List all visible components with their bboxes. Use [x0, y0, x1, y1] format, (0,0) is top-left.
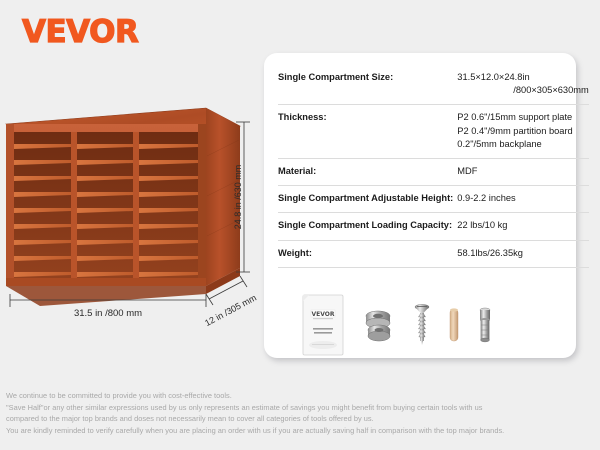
spec-label-material: Material:: [278, 158, 457, 185]
spec-label-weight: Weight:: [278, 240, 457, 267]
spec-label-loading-capacity: Single Compartment Loading Capacity:: [278, 213, 457, 240]
spec-value-thickness: P2 0.6"/15mm support plate P2 0.4"/9mm p…: [457, 105, 588, 159]
spec-row-material: Material: MDF: [278, 158, 589, 185]
specification-card: Single Compartment Size: 31.5×12.0×24.8i…: [264, 53, 576, 358]
spec-value-adjustable-height: 0.9-2.2 inches: [457, 186, 588, 213]
instruction-manual-icon: VEVOR: [302, 294, 344, 356]
vevor-brand-logo: VEVOR: [22, 17, 138, 48]
disclaimer-line-1: We continue to be committed to provide y…: [6, 390, 596, 402]
accessory-instruction-manual: VEVOR: [302, 294, 344, 361]
accessory-screw: [414, 303, 430, 352]
spec-label-adjustable-height: Single Compartment Adjustable Height:: [278, 186, 457, 213]
spec-value-extra-line-2: 0.2"/5mm backplane: [457, 138, 588, 151]
spec-label-compartment-size: Single Compartment Size:: [278, 65, 457, 105]
spec-value-extra-line: /800×305×630mm: [457, 84, 588, 97]
cam-lock-fitting-icon: [362, 308, 396, 342]
spec-value-loading-capacity: 22 lbs/10 kg: [457, 213, 588, 240]
spec-value-primary: P2 0.6"/15mm support plate: [457, 112, 572, 122]
spec-row-compartment-size: Single Compartment Size: 31.5×12.0×24.8i…: [278, 65, 589, 105]
spec-row-thickness: Thickness: P2 0.6"/15mm support plate P2…: [278, 105, 589, 159]
dimension-height-label: 24.8 in /630 mm: [233, 165, 243, 230]
dimension-width-label: 31.5 in /800 mm: [74, 308, 142, 319]
manual-brand-text: VEVOR: [311, 311, 334, 318]
product-illustration: 24.8 in /630 mm 31.5 in /800 mm 12 in /3…: [0, 100, 262, 340]
spec-row-adjustable-height: Single Compartment Adjustable Height: 0.…: [278, 186, 589, 213]
cam-bolt-icon: [478, 305, 492, 345]
spec-row-weight: Weight: 58.1lbs/26.35kg: [278, 240, 589, 267]
spec-label-thickness: Thickness:: [278, 105, 457, 159]
disclaimer-line-2: "Save Half"or any other similar expressi…: [6, 402, 596, 414]
accessory-dowel: [448, 306, 460, 349]
wood-screw-icon: [414, 303, 430, 347]
disclaimer-line-4: You are kindly reminded to verify carefu…: [6, 425, 596, 437]
specification-table: Single Compartment Size: 31.5×12.0×24.8i…: [278, 65, 589, 268]
disclaimer-line-3: compared to the major top brands and dos…: [6, 413, 596, 425]
accessory-cam-lock: [362, 308, 396, 347]
legal-disclaimer: We continue to be committed to provide y…: [6, 390, 596, 436]
wooden-dowel-icon: [448, 306, 460, 344]
spec-value-compartment-size: 31.5×12.0×24.8in /800×305×630mm: [457, 65, 588, 105]
accessory-cam-bolt: [478, 305, 492, 350]
organizer-3d-svg: 24.8 in /630 mm 31.5 in /800 mm 12 in /3…: [0, 100, 262, 340]
spec-row-loading-capacity: Single Compartment Loading Capacity: 22 …: [278, 213, 589, 240]
spec-value-primary: 31.5×12.0×24.8in: [457, 72, 529, 82]
spec-value-weight: 58.1lbs/26.35kg: [457, 240, 588, 267]
spec-value-extra-line-1: P2 0.4"/9mm partition board: [457, 125, 588, 138]
spec-value-material: MDF: [457, 158, 588, 185]
included-accessories-row: VEVOR: [278, 282, 562, 374]
